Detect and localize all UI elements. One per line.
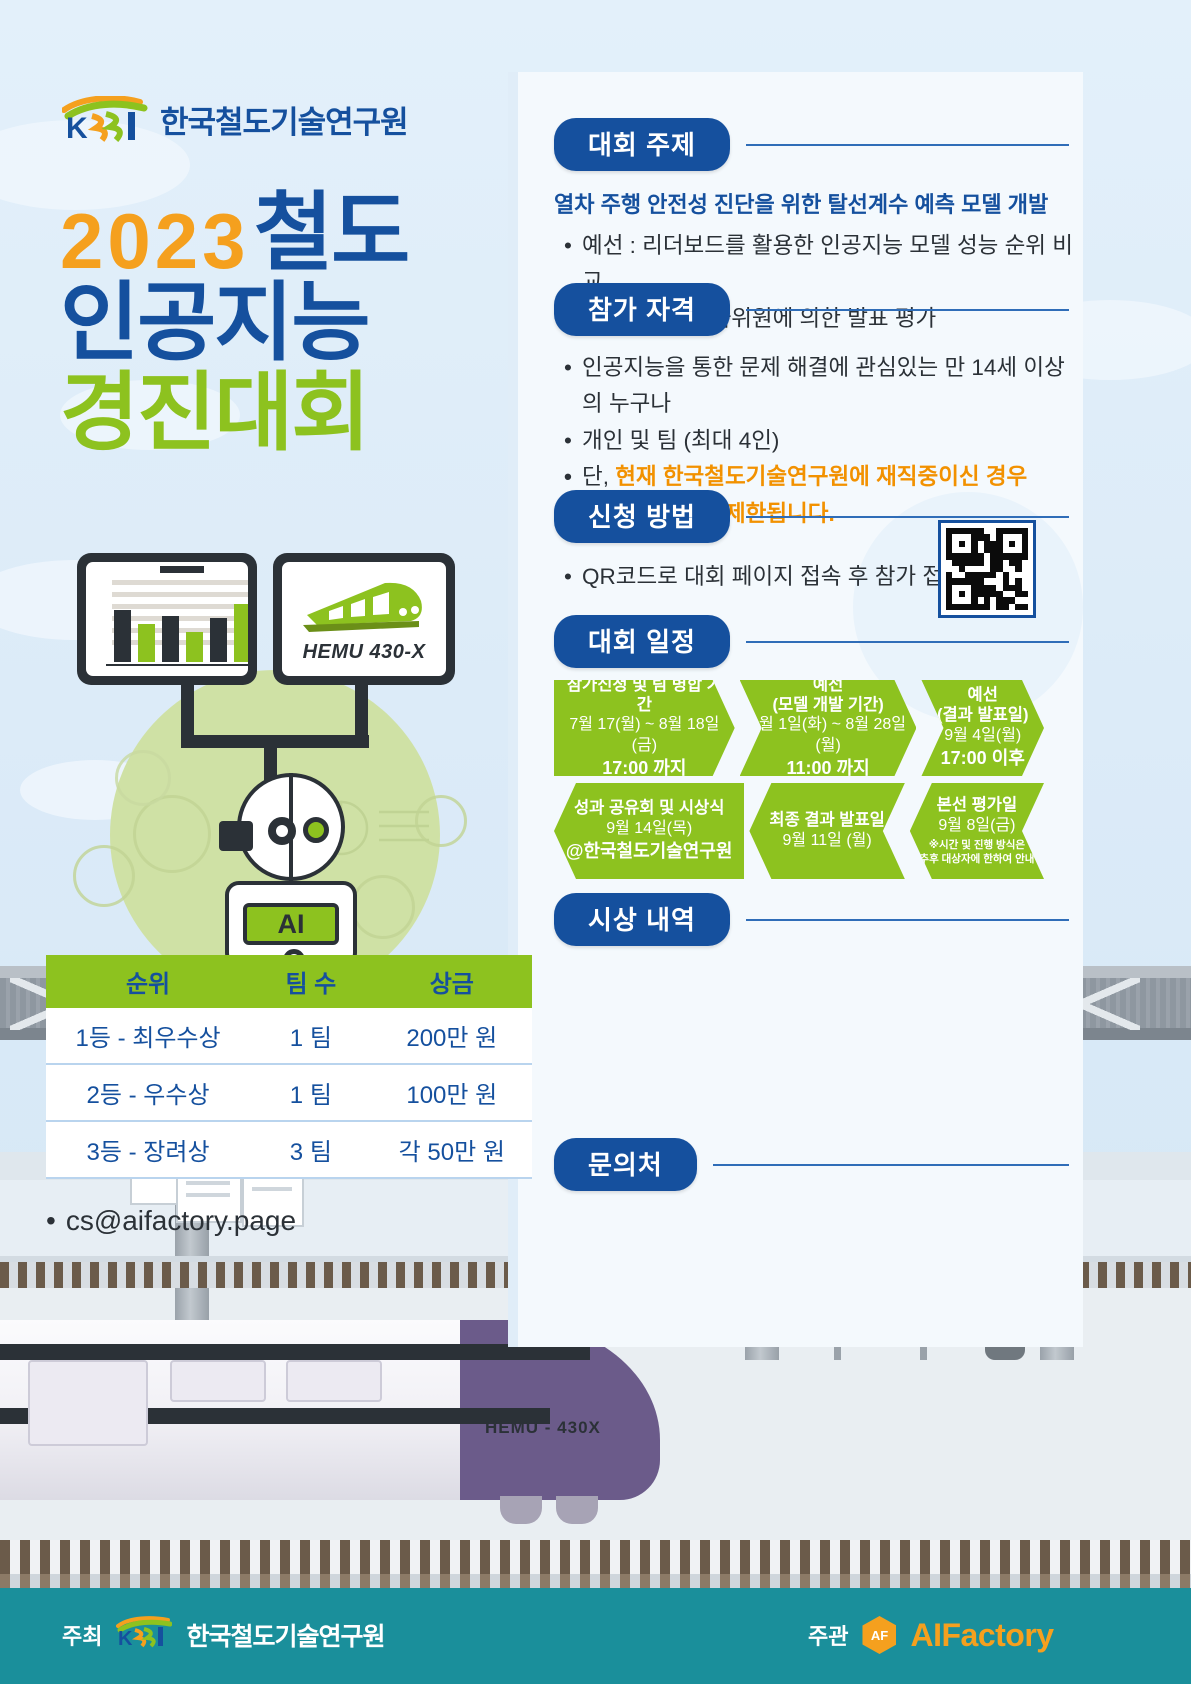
cable <box>181 685 194 741</box>
step-date: 7월 17(월) ~ 8월 18일(금) <box>560 715 729 757</box>
cell-rank: 1등 - 최우수상 <box>46 1008 250 1064</box>
step-date: 9월 11일 (월) <box>783 831 872 852</box>
step-title: 최종 결과 발표일 <box>769 811 884 831</box>
train-wheel <box>500 1496 542 1524</box>
schedule-step: 예선 (결과 발표일) 9월 4일(월) 17:00 이후 <box>921 680 1044 776</box>
column-header-prize: 상금 <box>372 955 532 1008</box>
table-row: 3등 - 장려상 3 팀 각 50만 원 <box>46 1121 532 1178</box>
step-time: 17:00 까지 <box>602 757 686 780</box>
step-date: 9월 14일(목) <box>606 819 692 840</box>
restricted-prefix: 단, <box>582 464 615 489</box>
train-window <box>28 1360 148 1446</box>
train-screen: HEMU 430-X <box>273 553 455 685</box>
organizer-label: 주관 <box>808 1619 848 1651</box>
schedule-step: 본선 평가일 9월 8일(금) ※시간 및 진행 방식은 추후 대상자에 한하여… <box>910 783 1044 879</box>
table-row: 2등 - 우수상 1 팀 100만 원 <box>46 1064 532 1121</box>
organizer-name: AIFactory <box>910 1617 1053 1654</box>
schedule-step: 최종 결과 발표일 9월 11일 (월) <box>749 783 904 879</box>
footer-host: 주최 K 한국철도기술연구원 <box>62 1616 385 1653</box>
train-screen-content: HEMU 430-X <box>282 562 446 676</box>
topic-lead: 열차 주행 안전성 진단을 위한 탈선계수 예측 모델 개발 <box>508 187 1083 219</box>
cell-rank: 3등 - 장려상 <box>46 1121 250 1178</box>
section-apply: 신청 방법 QR코드로 대회 페이지 접속 후 참가 접수폼 제출 <box>508 490 1083 595</box>
host-label: 주최 <box>62 1619 102 1651</box>
divider-line <box>746 919 1069 921</box>
contact-email[interactable]: cs@aifactory.page <box>66 1205 296 1236</box>
schedule-step: 예선 (모델 개발 기간) 8월 1일(화) ~ 8월 28일(월) 11:00… <box>740 680 917 776</box>
step-subtitle: (결과 발표일) <box>937 706 1028 726</box>
divider-line <box>746 516 1069 518</box>
chart-screen <box>77 553 257 685</box>
prizes-pill-row: 시상 내역 <box>508 893 1083 946</box>
aifactory-logo-icon <box>862 1616 896 1654</box>
bullet-icon: • <box>46 1205 56 1236</box>
step-subtitle: (모델 개발 기간) <box>772 696 883 716</box>
step-note-1: ※시간 및 진행 방식은 <box>929 839 1025 852</box>
title-line1: 철도 <box>254 190 408 278</box>
krri-logo-icon: K <box>62 96 150 142</box>
prize-table-header-row: 순위 팀 수 상금 <box>46 955 532 1008</box>
step-title: 성과 공유회 및 시상식 <box>574 799 724 819</box>
step-location: @한국철도기술연구원 <box>566 840 733 863</box>
schedule-pill-row: 대회 일정 <box>508 615 1083 668</box>
step-date: 9월 4일(월) <box>944 726 1021 747</box>
gear-icon <box>351 875 415 939</box>
footer-organizer: 주관 AIFactory <box>808 1616 1054 1654</box>
step-time: 17:00 이후 <box>941 747 1025 770</box>
topic-pill-label: 대회 주제 <box>554 118 730 171</box>
contact-pill-label: 문의처 <box>554 1138 697 1191</box>
cell-prize: 200만 원 <box>372 1008 532 1064</box>
gear-icon <box>73 845 135 907</box>
chart-screen-content <box>86 562 248 676</box>
title-line2: 인공지능 <box>60 278 490 368</box>
krri-logo-text: 한국철도기술연구원 <box>160 97 408 142</box>
section-contact: 문의처 <box>508 1138 1083 1191</box>
list-item: 개인 및 팀 (최대 4인) <box>564 423 1083 459</box>
train-window <box>170 1360 266 1402</box>
schedule-step: 참가신청 및 팀 병합 기간 7월 17(월) ~ 8월 18일(금) 17:0… <box>554 680 735 776</box>
train-stripe <box>0 1344 590 1360</box>
schedule-pill-label: 대회 일정 <box>554 615 730 668</box>
robot-ear <box>219 821 253 851</box>
schedule-chevrons: 참가신청 및 팀 병합 기간 7월 17(월) ~ 8월 18일(금) 17:0… <box>554 680 1044 879</box>
topic-pill-row: 대회 주제 <box>508 118 1083 171</box>
robot-eye-right <box>303 817 329 843</box>
divider-line <box>746 144 1069 146</box>
schedule-row-2: 성과 공유회 및 시상식 9월 14일(목) @한국철도기술연구원 최종 결과 … <box>554 783 1044 879</box>
restricted-text-1: 현재 한국철도기술연구원에 재직중이신 경우 <box>615 464 1027 489</box>
title-line3: 경진대회 <box>60 368 490 458</box>
schedule-row-1: 참가신청 및 팀 병합 기간 7월 17(월) ~ 8월 18일(금) 17:0… <box>554 680 1044 776</box>
ai-robot-illustration: HEMU 430-X AI <box>55 545 495 1015</box>
train-window <box>286 1360 382 1402</box>
divider-line <box>746 309 1069 311</box>
contact-email-row[interactable]: •cs@aifactory.page <box>46 1205 296 1237</box>
prizes-pill-label: 시상 내역 <box>554 893 730 946</box>
step-note-2: 추후 대상자에 한하여 안내 <box>919 853 1034 866</box>
train-model-text: HEMU 430-X <box>303 641 426 664</box>
poster-footer: 주최 K 한국철도기술연구원 주관 AIFactory <box>0 1588 1191 1684</box>
krri-logo: K 한국철도기술연구원 <box>62 96 408 142</box>
cell-teams: 1 팀 <box>250 1008 372 1064</box>
section-prizes: 시상 내역 <box>508 893 1083 946</box>
ai-badge: AI <box>243 903 339 945</box>
apply-pill-label: 신청 방법 <box>554 490 730 543</box>
host-name: 한국철도기술연구원 <box>186 1617 384 1653</box>
magnifier-icon <box>115 750 171 806</box>
title-year: 2023 <box>60 204 250 278</box>
cell-teams: 1 팀 <box>250 1064 372 1121</box>
cell-teams: 3 팀 <box>250 1121 372 1178</box>
svg-text:K: K <box>66 112 88 142</box>
step-date: 9월 8일(금) <box>938 816 1015 837</box>
section-schedule: 대회 일정 <box>508 615 1083 668</box>
eligibility-pill-row: 참가 자격 <box>508 283 1083 336</box>
cell-prize: 100만 원 <box>372 1064 532 1121</box>
schedule-step: 성과 공유회 및 시상식 9월 14일(목) @한국철도기술연구원 <box>554 783 744 879</box>
column-header-teams: 팀 수 <box>250 955 372 1008</box>
train-wheel <box>556 1496 598 1524</box>
robot-eye-left <box>268 817 296 845</box>
krri-logo-icon: K <box>116 1616 172 1653</box>
step-date: 8월 1일(화) ~ 8월 28일(월) <box>746 715 911 757</box>
gear-icon <box>133 795 211 873</box>
prize-table: 순위 팀 수 상금 1등 - 최우수상 1 팀 200만 원 2등 - 우수상 … <box>46 955 532 1179</box>
contact-pill-row: 문의처 <box>508 1138 1083 1191</box>
column-header-rank: 순위 <box>46 955 250 1008</box>
eligibility-pill-label: 참가 자격 <box>554 283 730 336</box>
poster-title: 2023 철도 인공지능 경진대회 <box>60 190 490 458</box>
lower-rail-ties <box>0 1574 1191 1588</box>
divider-line <box>713 1164 1069 1166</box>
train-icon <box>299 575 429 637</box>
step-title: 참가신청 및 팀 병합 기간 <box>560 676 729 716</box>
table-row: 1등 - 최우수상 1 팀 200만 원 <box>46 1008 532 1064</box>
cell-rank: 2등 - 우수상 <box>46 1064 250 1121</box>
divider-line <box>746 641 1069 643</box>
svg-text:K: K <box>118 1628 133 1648</box>
step-time: 11:00 까지 <box>787 757 870 780</box>
list-item: 인공지능을 통한 문제 해결에 관심있는 만 14세 이상의 누구나 <box>564 350 1083 423</box>
cable <box>355 685 368 741</box>
qr-code-icon[interactable] <box>938 520 1036 618</box>
train-model-label: HEMU - 430X <box>485 1418 601 1438</box>
step-title: 본선 평가일 <box>937 796 1017 816</box>
step-title: 예선 <box>968 686 998 706</box>
